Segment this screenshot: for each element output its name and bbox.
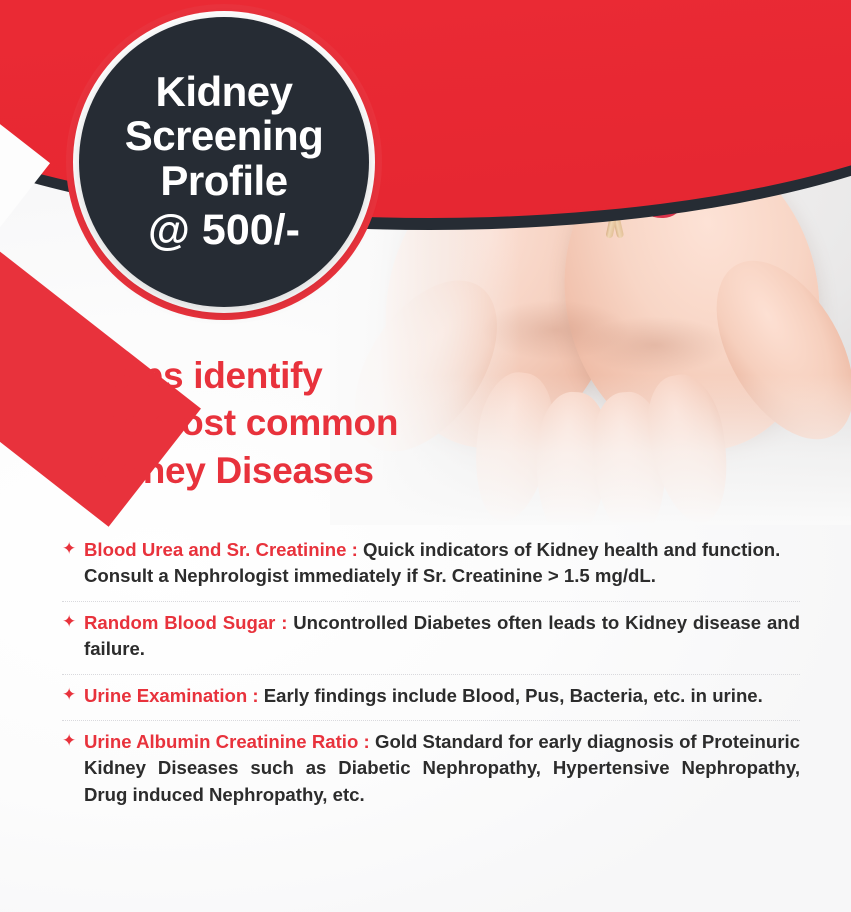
sparkle-bullet-icon: ✦ bbox=[62, 610, 84, 630]
list-item-term: Urine Albumin Creatinine Ratio : bbox=[84, 731, 375, 752]
list-item-body: Urine Albumin Creatinine Ratio : Gold St… bbox=[84, 729, 800, 808]
list-item-body: Urine Examination : Early findings inclu… bbox=[84, 683, 800, 709]
sparkle-bullet-icon: ✦ bbox=[62, 537, 84, 557]
badge-title-line-2: Screening bbox=[125, 114, 324, 159]
list-item-term: Random Blood Sugar : bbox=[84, 612, 293, 633]
list-divider bbox=[62, 674, 800, 675]
badge-title-line-1: Kidney bbox=[155, 70, 292, 115]
list-divider bbox=[62, 720, 800, 721]
list-item: ✦ Urine Examination : Early findings inc… bbox=[62, 679, 800, 715]
sparkle-bullet-icon: ✦ bbox=[62, 729, 84, 749]
poster-root: Kidney Screening Profile @ 500/- Helps i… bbox=[0, 0, 851, 912]
test-list: ✦ Blood Urea and Sr. Creatinine : Quick … bbox=[62, 533, 800, 814]
badge-price: @ 500/- bbox=[148, 206, 300, 254]
list-item: ✦ Random Blood Sugar : Uncontrolled Diab… bbox=[62, 606, 800, 669]
list-item-body: Blood Urea and Sr. Creatinine : Quick in… bbox=[84, 537, 800, 590]
list-item-term: Blood Urea and Sr. Creatinine : bbox=[84, 539, 363, 560]
headline: Helps identify the most common Kidney Di… bbox=[84, 352, 514, 494]
headline-line-3: Kidney Diseases bbox=[84, 447, 514, 494]
sparkle-bullet-icon: ✦ bbox=[62, 683, 84, 703]
headline-line-2: the most common bbox=[84, 399, 514, 446]
list-item-body: Random Blood Sugar : Uncontrolled Diabet… bbox=[84, 610, 800, 663]
list-divider bbox=[62, 601, 800, 602]
list-item: ✦ Urine Albumin Creatinine Ratio : Gold … bbox=[62, 725, 800, 814]
list-item-text: Early findings include Blood, Pus, Bacte… bbox=[264, 685, 763, 706]
palm-crease-2 bbox=[580, 316, 730, 374]
badge-title-line-3: Profile bbox=[160, 159, 287, 204]
headline-line-1: Helps identify bbox=[84, 352, 514, 399]
list-item: ✦ Blood Urea and Sr. Creatinine : Quick … bbox=[62, 533, 800, 596]
kidney-screening-badge: Kidney Screening Profile @ 500/- bbox=[79, 17, 369, 307]
list-item-term: Urine Examination : bbox=[84, 685, 264, 706]
